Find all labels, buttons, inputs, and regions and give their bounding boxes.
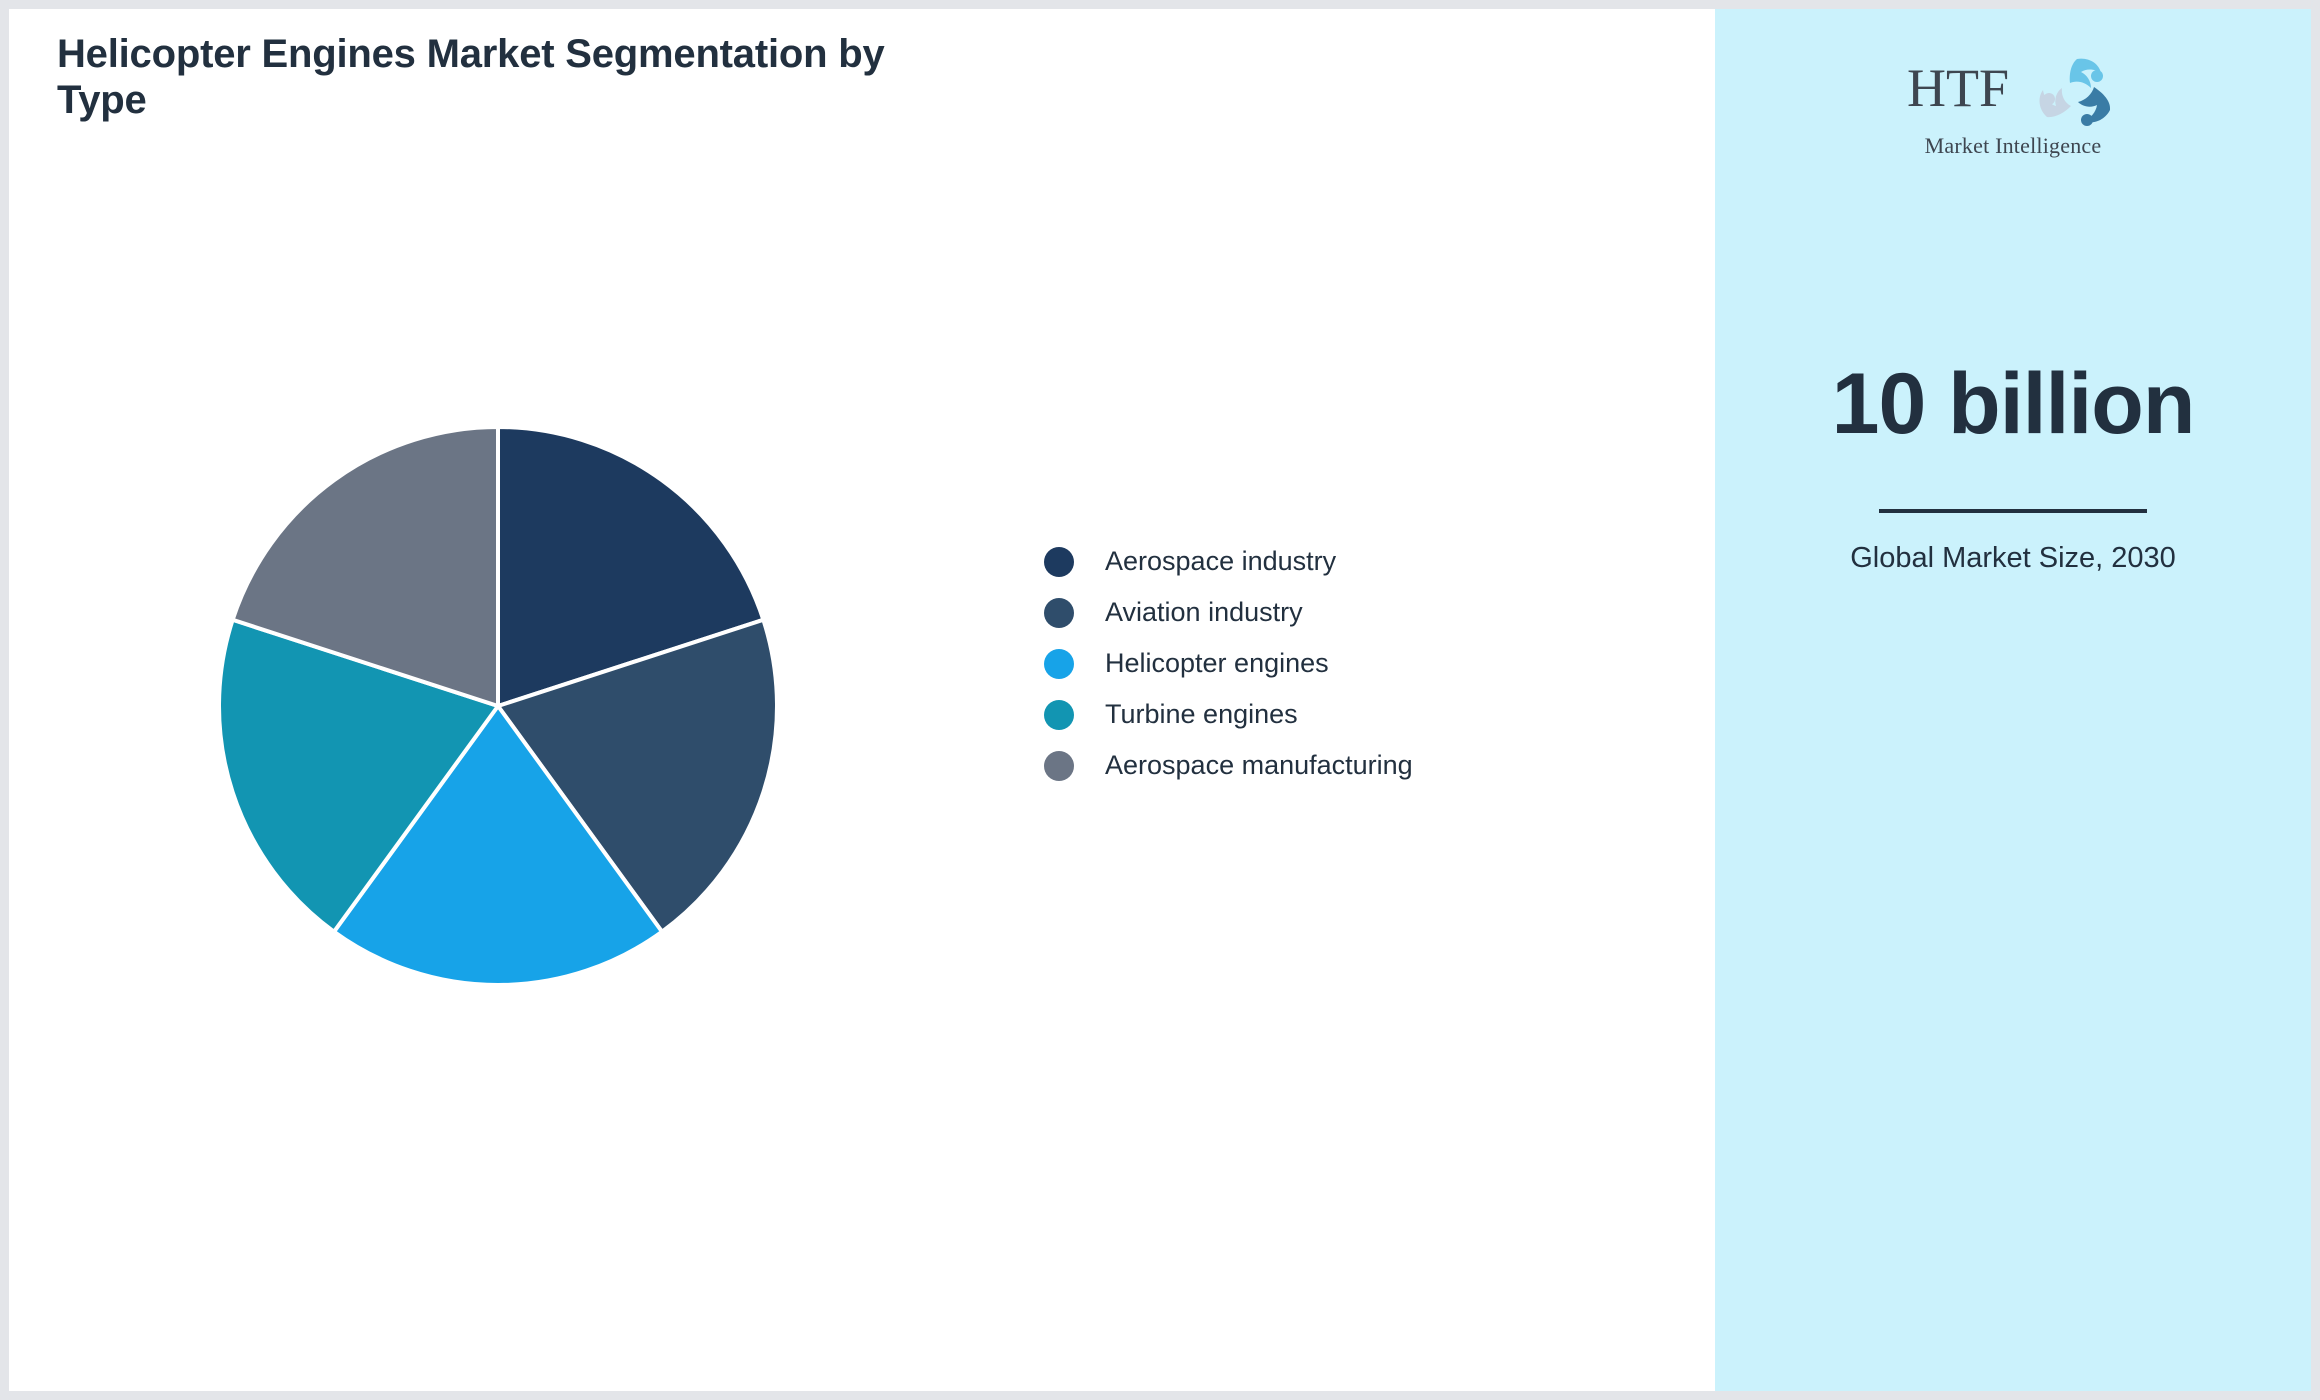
brand-logo: HTF Market Intelligence: [1715, 57, 2311, 161]
legend-item-aviation-industry[interactable]: Aviation industry: [1044, 587, 1604, 638]
htf-triple-dolphin-logo-icon: [2025, 55, 2121, 129]
legend-item-label: Aerospace industry: [1105, 546, 1336, 577]
chart-panel: Helicopter Engines Market Segmentation b…: [9, 9, 1715, 1391]
stat-divider: [1879, 509, 2147, 513]
brand-tagline: Market Intelligence: [1903, 133, 2123, 159]
circle-swatch-icon: [1044, 547, 1074, 577]
stat-sidebar: HTF Market Intelligence 10 billion: [1715, 9, 2311, 1391]
legend-item-label: Aerospace manufacturing: [1105, 750, 1413, 781]
legend-item-turbine-engines[interactable]: Turbine engines: [1044, 689, 1604, 740]
stat-block: 10 billion Global Market Size, 2030: [1715, 361, 2311, 575]
brand-wordmark: HTF: [1907, 59, 2009, 117]
stat-value: 10 billion: [1715, 361, 2311, 447]
infographic-canvas: Helicopter Engines Market Segmentation b…: [9, 9, 2311, 1391]
circle-swatch-icon: [1044, 649, 1074, 679]
legend-item-label: Aviation industry: [1105, 597, 1303, 628]
circle-swatch-icon: [1044, 700, 1074, 730]
infographic-root: Helicopter Engines Market Segmentation b…: [0, 0, 2320, 1400]
circle-swatch-icon: [1044, 598, 1074, 628]
chart-legend: Aerospace industry Aviation industry Hel…: [1044, 536, 1604, 791]
legend-item-label: Helicopter engines: [1105, 648, 1329, 679]
brand-logo-inner: HTF Market Intelligence: [1903, 57, 2123, 161]
legend-item-aerospace-industry[interactable]: Aerospace industry: [1044, 536, 1604, 587]
pie-slice-group: [219, 427, 777, 985]
page-title: Helicopter Engines Market Segmentation b…: [57, 31, 957, 124]
legend-item-aerospace-manufacturing[interactable]: Aerospace manufacturing: [1044, 740, 1604, 791]
pie-chart-svg: [205, 413, 791, 999]
legend-item-helicopter-engines[interactable]: Helicopter engines: [1044, 638, 1604, 689]
stat-caption: Global Market Size, 2030: [1715, 543, 2311, 575]
pie-chart: [205, 413, 791, 999]
legend-item-label: Turbine engines: [1105, 699, 1298, 730]
circle-swatch-icon: [1044, 751, 1074, 781]
